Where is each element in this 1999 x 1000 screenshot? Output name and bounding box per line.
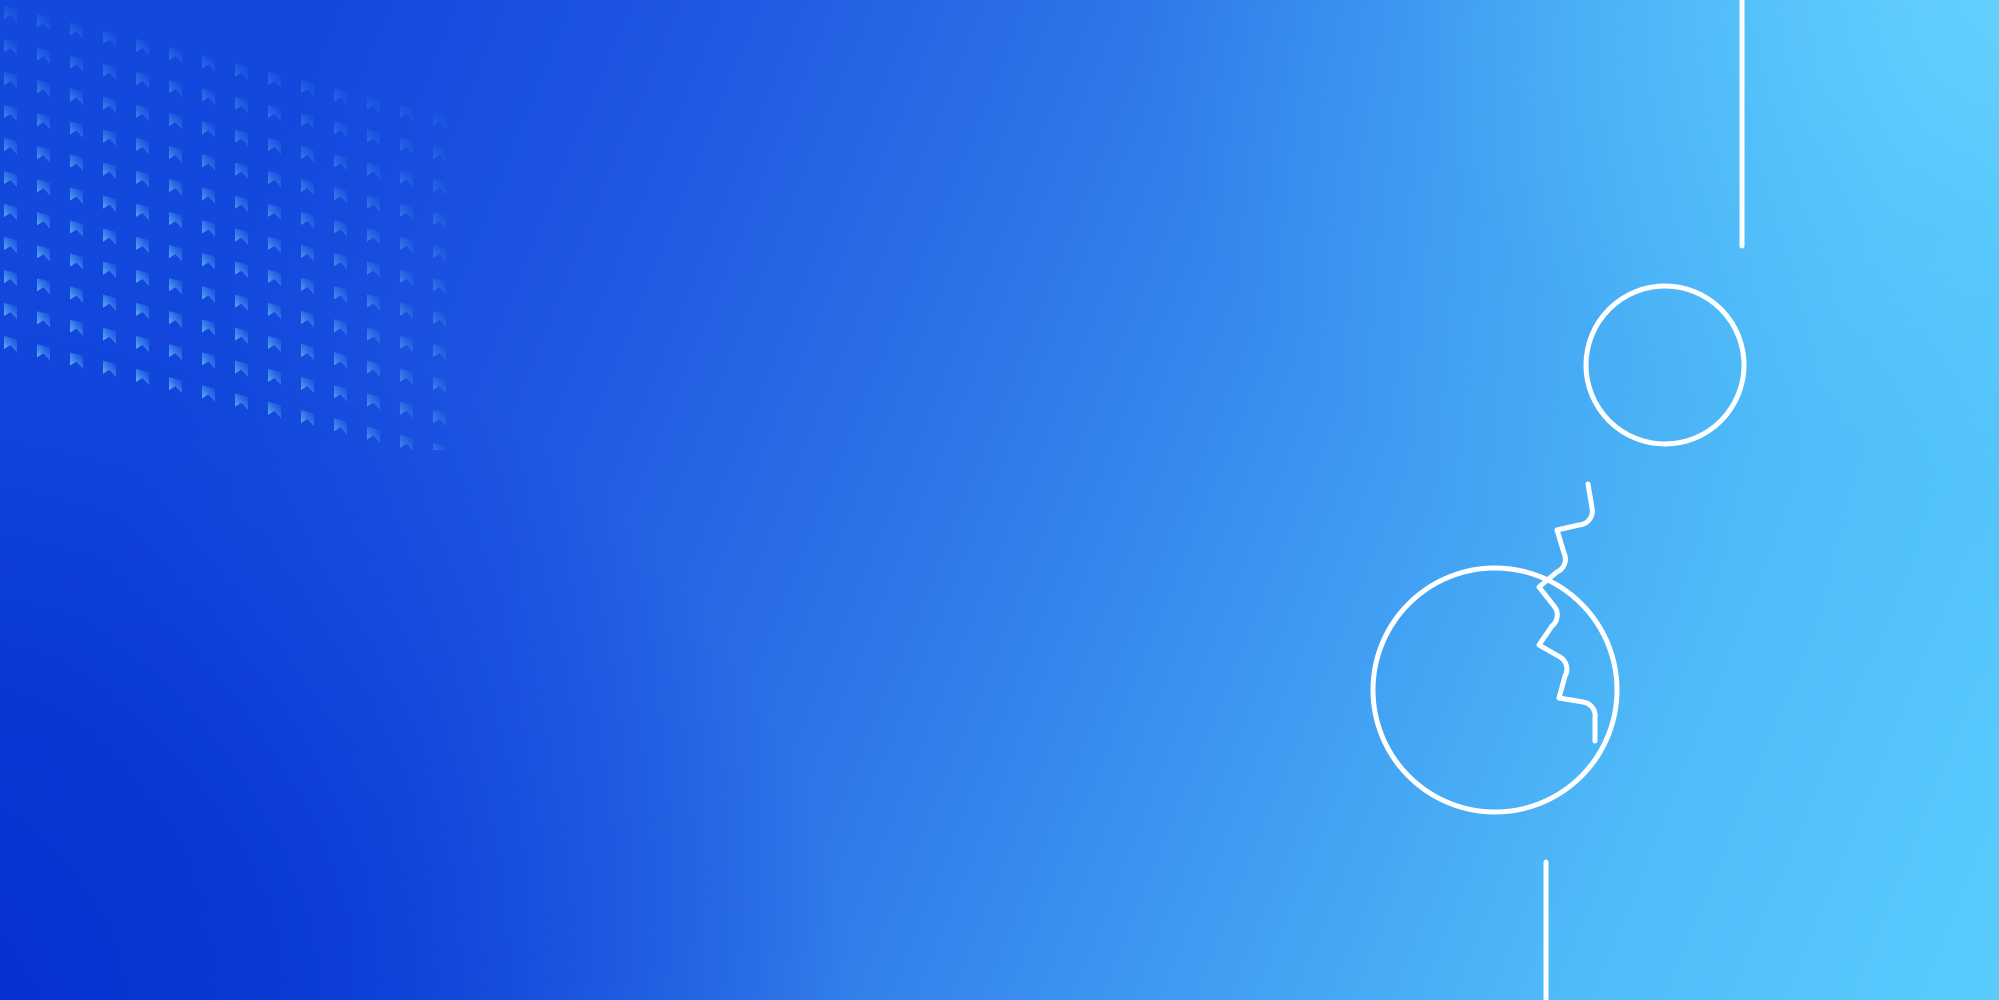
maintenance-message-block xyxy=(186,330,1186,384)
maintenance-page xyxy=(0,0,1999,1000)
background-highlight-glow xyxy=(0,0,1999,1000)
